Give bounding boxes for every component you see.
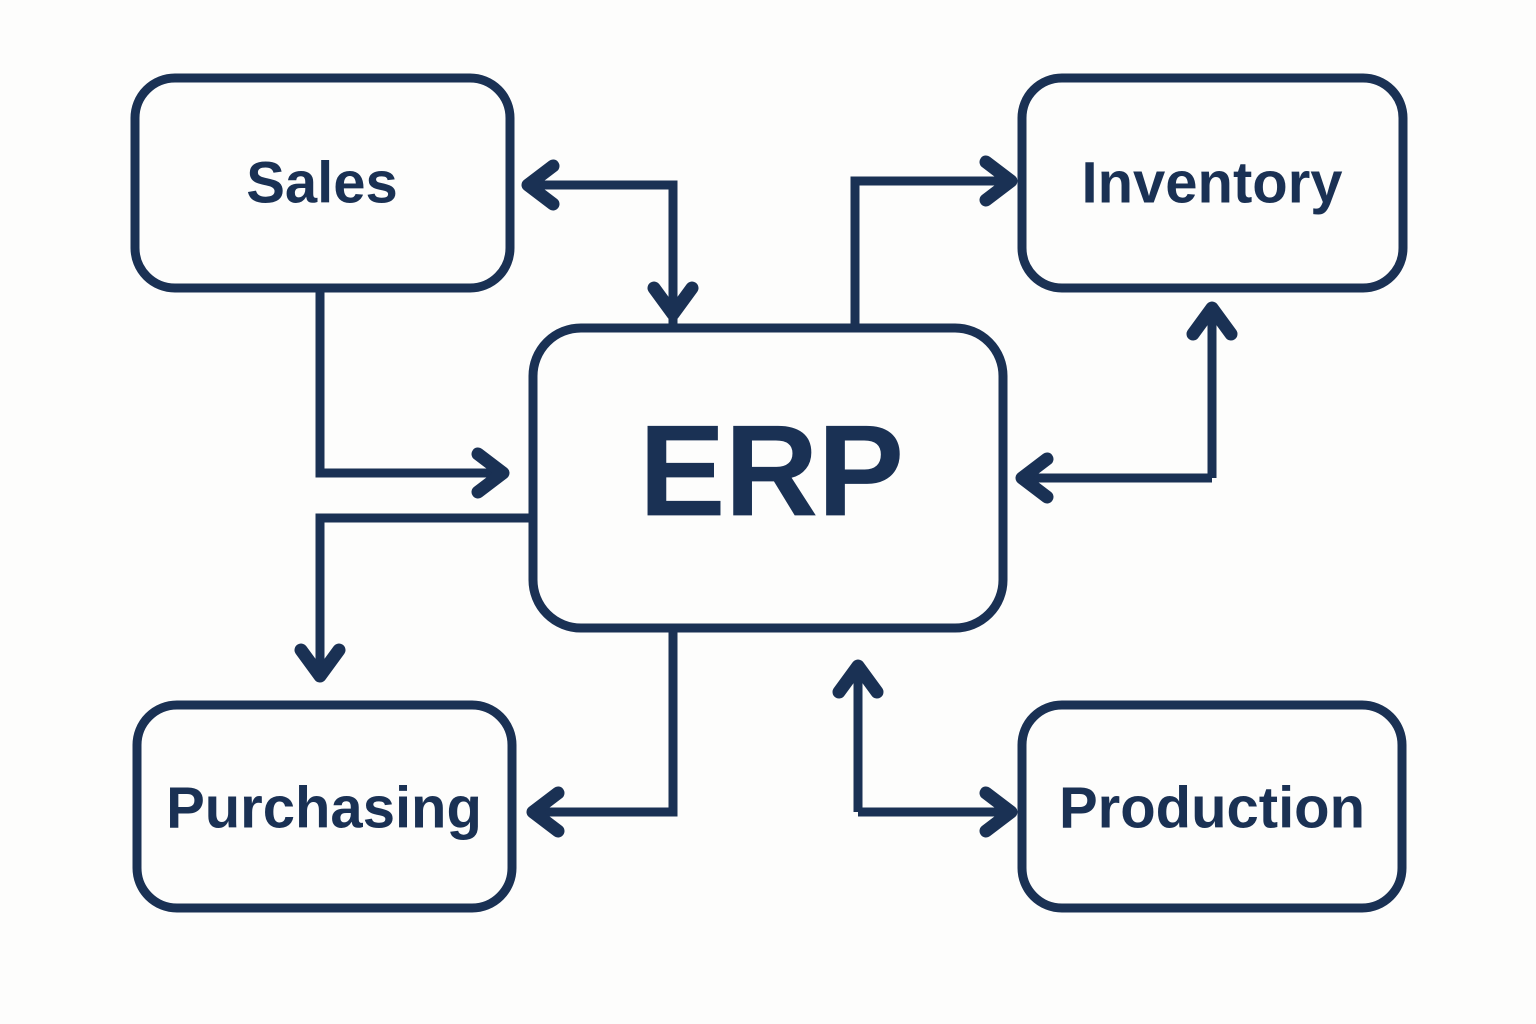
node-purchasing-label: Purchasing [166,775,482,840]
erp-diagram-canvas: Sales Inventory Purchasing Production ER… [0,0,1536,1024]
edge-sales-to-erp-side [320,290,503,492]
node-production[interactable]: Production [1022,705,1402,908]
node-inventory-label: Inventory [1081,150,1342,215]
edge-erp-to-purchasing-bottom [533,628,673,831]
node-purchasing[interactable]: Purchasing [137,705,512,908]
node-sales-label: Sales [246,150,398,215]
node-production-label: Production [1059,775,1365,840]
node-erp-label: ERP [639,397,903,543]
edge-erp-to-sales [528,166,673,328]
edge-inventory-to-erp [1022,308,1231,497]
edge-sales-to-erp-side-line [320,290,496,473]
node-inventory[interactable]: Inventory [1022,78,1403,288]
edge-sales-to-erp-top [654,185,692,314]
edge-erp-to-purchasing-bottom-line [540,628,673,812]
node-erp[interactable]: ERP [533,328,1003,628]
edge-erp-to-production [858,793,1011,831]
node-sales[interactable]: Sales [135,78,510,288]
edge-production-to-erp [839,666,877,812]
edge-erp-to-inventory [855,162,1011,328]
edge-erp-to-purchasing-side-line [320,518,533,672]
edge-erp-to-purchasing-side [301,518,533,676]
erp-flow-diagram: Sales Inventory Purchasing Production ER… [0,0,1536,1024]
